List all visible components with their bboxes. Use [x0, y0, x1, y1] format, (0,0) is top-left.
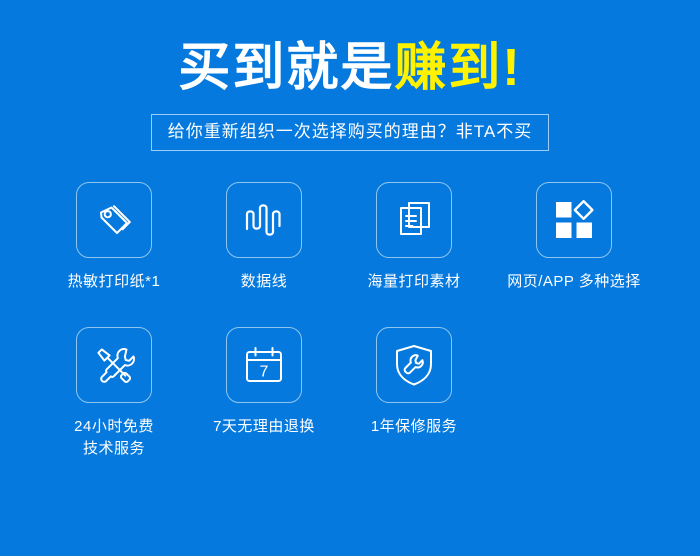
promo-banner: 买到就是赚到! 给你重新组织一次选择购买的理由？非TA不买 热 — [0, 0, 700, 556]
feature-row-2: 24小时免费 技术服务 7 7天无理由退换 — [0, 327, 700, 460]
calendar-day-number: 7 — [260, 364, 269, 381]
feature-item-web-app-choices[interactable]: 网页/APP 多种选择 — [489, 182, 659, 293]
icon-box-web-app-choices — [536, 182, 612, 258]
wrench-screwdriver-icon — [92, 343, 136, 387]
banner-header: 买到就是赚到! 给你重新组织一次选择购买的理由？非TA不买 — [0, 0, 700, 151]
feature-item-print-materials[interactable]: 海量打印素材 — [339, 182, 489, 293]
feature-label-7day-return: 7天无理由退换 — [189, 416, 339, 438]
feature-label-web-app-choices: 网页/APP 多种选择 — [489, 271, 659, 293]
feature-label-free-support: 24小时免费 技术服务 — [39, 416, 189, 460]
subtitle-wrapper: 给你重新组织一次选择购买的理由？非TA不买 — [0, 114, 700, 151]
headline-accent-text: 赚到! — [394, 39, 521, 97]
feature-item-1year-warranty[interactable]: 1年保修服务 — [339, 327, 489, 438]
feature-item-thermal-paper[interactable]: 热敏打印纸*1 — [39, 182, 189, 293]
headline-primary-text: 买到就是 — [178, 39, 394, 97]
feature-label-1year-warranty: 1年保修服务 — [339, 416, 489, 438]
feature-label-print-materials: 海量打印素材 — [339, 271, 489, 293]
icon-box-print-materials — [376, 182, 452, 258]
shield-wrench-icon — [393, 343, 435, 387]
icon-box-1year-warranty — [376, 327, 452, 403]
feature-label-data-cable: 数据线 — [189, 271, 339, 293]
documents-stack-icon — [393, 198, 435, 242]
feature-item-7day-return[interactable]: 7 7天无理由退换 — [189, 327, 339, 438]
calendar-7-icon: 7 — [243, 344, 285, 386]
feature-item-free-support[interactable]: 24小时免费 技术服务 — [39, 327, 189, 460]
icon-box-thermal-paper — [76, 182, 152, 258]
page-title: 买到就是赚到! — [0, 38, 700, 98]
icon-box-data-cable — [226, 182, 302, 258]
feature-row-1: 热敏打印纸*1 数据线 — [0, 182, 700, 293]
icon-box-7day-return: 7 — [226, 327, 302, 403]
cable-wave-icon — [244, 199, 284, 241]
squares-diamond-icon — [553, 199, 595, 241]
icon-box-free-support — [76, 327, 152, 403]
feature-label-thermal-paper: 热敏打印纸*1 — [39, 271, 189, 293]
subtitle-banner: 给你重新组织一次选择购买的理由？非TA不买 — [151, 114, 549, 151]
price-tag-icon — [92, 198, 136, 242]
feature-grid: 热敏打印纸*1 数据线 — [0, 182, 700, 460]
feature-item-data-cable[interactable]: 数据线 — [189, 182, 339, 293]
